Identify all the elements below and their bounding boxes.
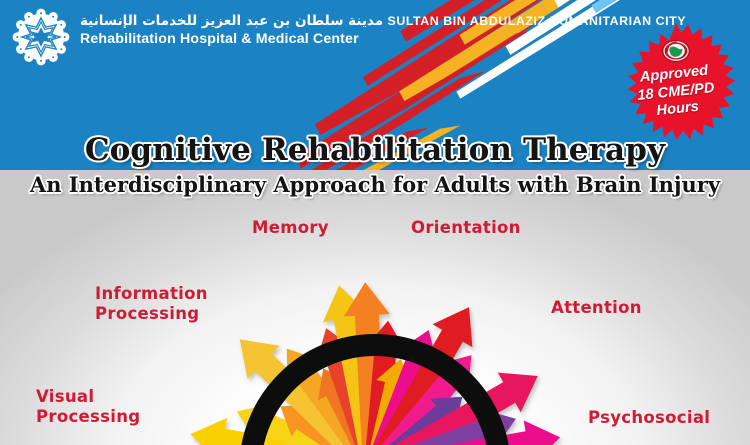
cme-approval-badge: Approved 18 CME/PD Hours xyxy=(616,22,736,140)
diagram-label-psychosocial: Psychosocial xyxy=(588,408,710,427)
star-rosette-icon xyxy=(12,8,70,66)
diagram-label-visual-processing: Visual Processing xyxy=(36,387,140,427)
diagram-label-attention: Attention xyxy=(551,298,642,317)
page-title: Cognitive Rehabilitation Therapy xyxy=(0,132,750,168)
globe-seal-icon xyxy=(660,38,692,64)
diagram-label-orientation: Orientation xyxy=(411,218,521,237)
badge-line3: Hours xyxy=(656,99,700,119)
diagram-label-information-processing: Information Processing xyxy=(95,284,208,324)
logo-arabic-name: مدينة سلطان بن عبد العزيز للخدمات الإنسا… xyxy=(80,13,383,29)
logo-english-subtitle: Rehabilitation Hospital & Medical Center xyxy=(80,31,359,47)
poster-canvas: مدينة سلطان بن عبد العزيز للخدمات الإنسا… xyxy=(0,0,750,445)
page-subtitle: An Interdisciplinary Approach for Adults… xyxy=(0,172,750,197)
diagram-label-memory: Memory xyxy=(252,218,329,237)
